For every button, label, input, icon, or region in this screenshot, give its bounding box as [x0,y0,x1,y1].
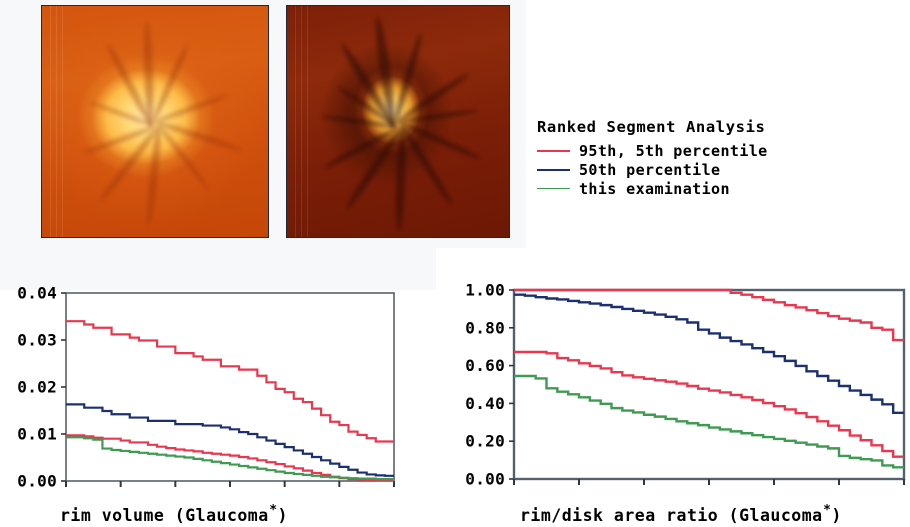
legend-swatch-percentile-50 [537,169,570,171]
retinal-vessel [142,21,155,126]
chart-rim-disk-area-ratio: 0.000.200.400.600.801.00rim/disk area ra… [452,278,910,527]
retinal-vessel [394,126,407,230]
retinal-vessel [153,92,230,124]
x-axis-label-superscript: * [269,503,277,518]
series-this-examination [66,437,394,479]
image-edge-artifact [50,6,51,237]
retinal-vessel [320,113,398,129]
y-tick-label: 0.00 [465,470,505,489]
retinal-vessel [155,119,244,153]
y-tick-label: 0.01 [17,425,57,444]
image-edge-artifact [307,6,308,237]
retinal-vessel [104,41,155,128]
retinal-vessel [150,42,191,125]
legend-swatch-this-examination [537,188,570,189]
image-edge-artifact [301,6,302,237]
y-tick-label: 0.03 [17,331,57,350]
legend-item-percentile-95-5: 95th, 5th percentile [537,141,907,160]
x-axis-label-tail: ) [831,506,841,525]
x-axis-label-tail: ) [278,506,288,525]
legend-label-percentile-50: 50th percentile [579,161,720,179]
reflectance-image [41,5,269,238]
retinal-vessel [397,108,479,124]
y-tick-label: 0.40 [465,394,505,413]
retinal-vessel [395,70,471,124]
legend-item-percentile-50: 50th percentile [537,160,907,179]
retinal-vessel [398,121,455,206]
retinal-vessel [336,84,398,128]
retinal-vessel [391,32,424,125]
retinal-vessel [322,125,401,171]
y-tick-label: 0.04 [17,284,57,303]
y-tick-label: 0.60 [465,356,505,375]
series-5th-percentile [514,352,904,457]
y-tick-label: 0.00 [17,472,57,491]
retinal-vessel [373,16,398,128]
retinal-vessel [343,126,404,212]
retinal-vessel [97,125,160,203]
topography-image [286,5,510,238]
image-edge-artifact [62,6,63,237]
legend-swatch-percentile-95-5 [537,150,570,152]
series-5th-percentile [66,435,394,480]
legend-item-this-examination: this examination [537,179,907,198]
x-axis-label-superscript: * [823,503,831,518]
legend-label-this-examination: this examination [579,180,730,198]
y-tick-label: 0.02 [17,378,57,397]
plot-frame [66,293,394,481]
image-edge-artifact [295,6,296,237]
x-axis-label: rim volume (Glaucoma [60,506,269,525]
series-95th-percentile [66,321,394,441]
retinal-vessel [145,126,163,226]
retinal-vessel [82,124,157,155]
legend: Ranked Segment Analysis 95th, 5th percen… [537,118,907,198]
reflectance-image-canvas [42,6,268,237]
y-tick-label: 1.00 [465,281,505,300]
retinal-vessel [155,121,212,192]
legend-title: Ranked Segment Analysis [537,118,907,136]
image-edge-artifact [56,6,57,237]
chart-rim-volume: 0.000.010.020.030.04rim volume (Glaucoma… [0,282,400,527]
legend-label-percentile-95-5: 95th, 5th percentile [579,142,768,160]
retinal-vessel [338,41,398,130]
retinal-vessel [398,119,483,161]
legend-entries: 95th, 5th percentile50th percentilethis … [537,141,907,198]
y-tick-label: 0.80 [465,318,505,337]
topography-image-canvas [287,6,509,237]
x-axis-label: rim/disk area ratio (Glaucoma [520,506,823,525]
retinal-vessel [88,100,155,128]
y-tick-label: 0.20 [465,432,505,451]
